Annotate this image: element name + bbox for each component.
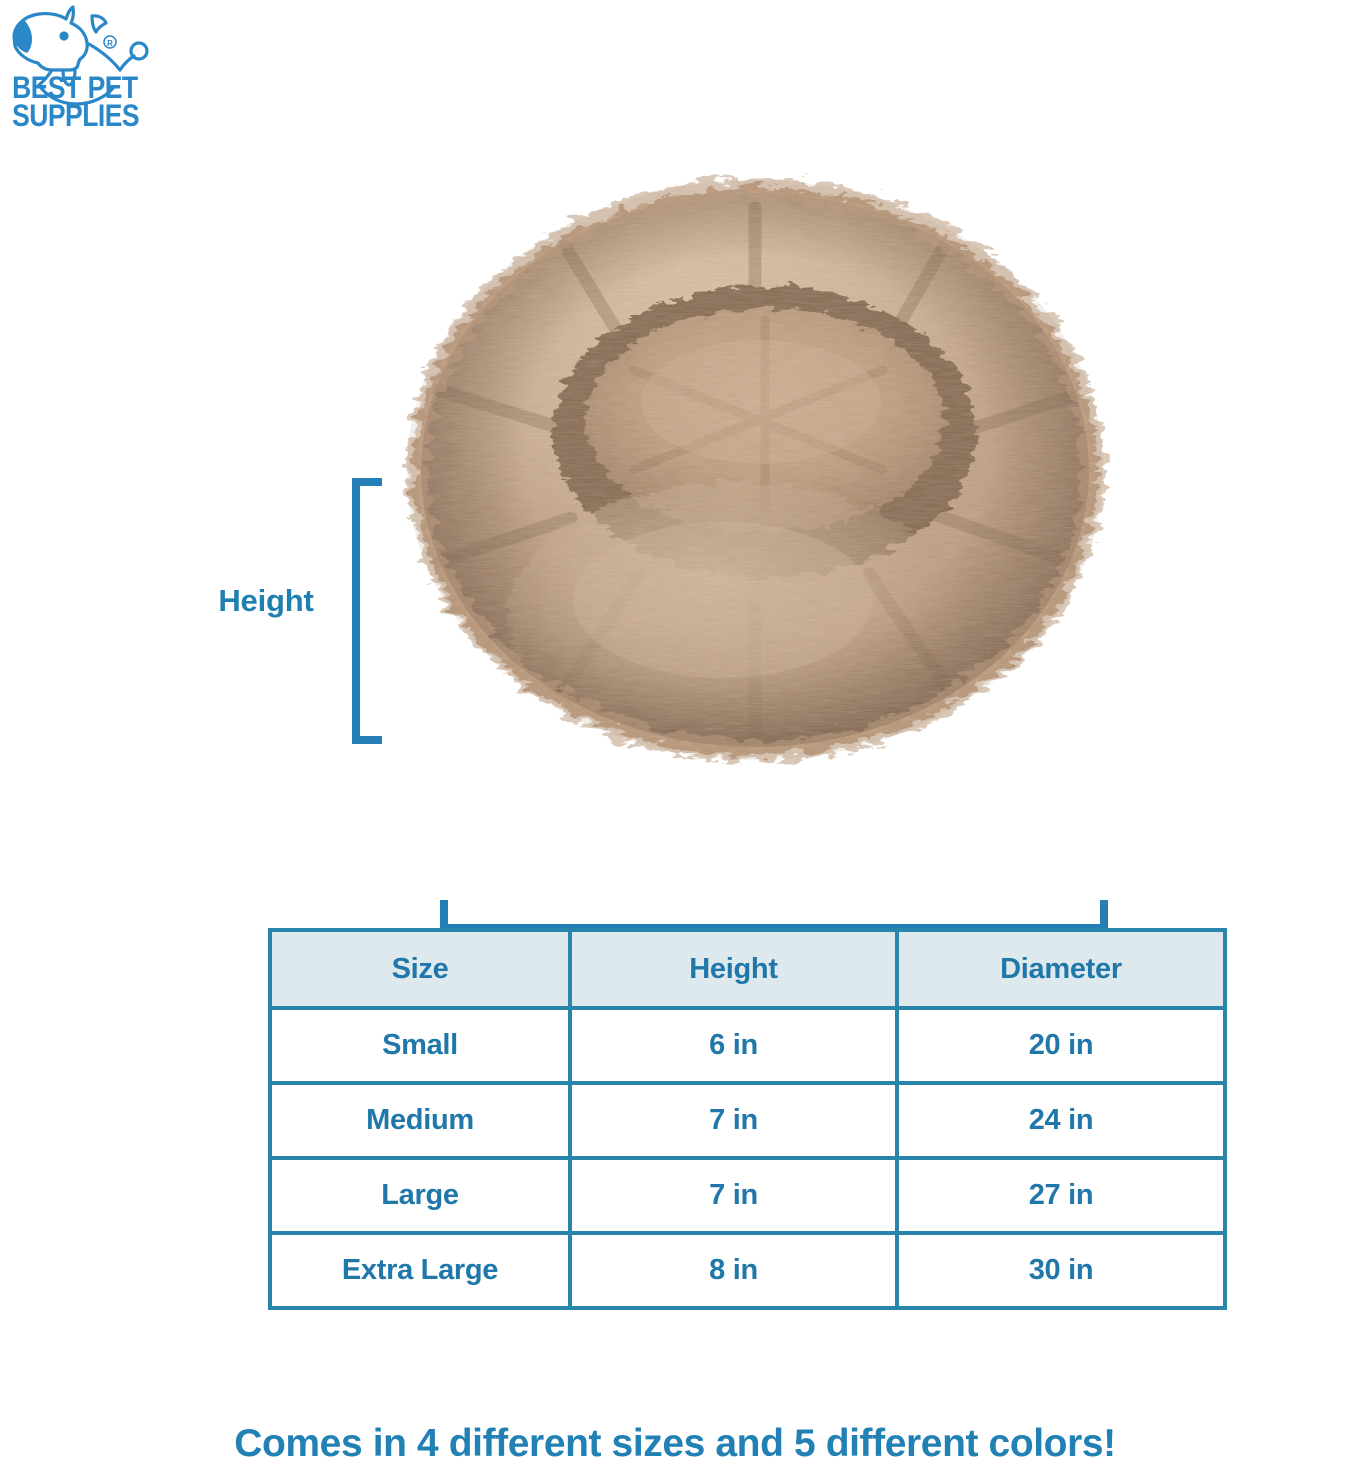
cell-height: 8 in [570, 1233, 897, 1308]
brand-wordmark-line2: SUPPLIES [12, 99, 139, 132]
pet-bed-image [383, 170, 1128, 770]
cell-diameter: 30 in [897, 1233, 1225, 1308]
product-figure: Height Diameter [0, 150, 1350, 870]
bracket-line-vertical [352, 478, 360, 744]
column-header-size: Size [270, 930, 570, 1008]
dog-eye-icon [59, 31, 68, 40]
footer-caption: Comes in 4 different sizes and 5 differe… [0, 1422, 1350, 1466]
cell-height: 6 in [570, 1008, 897, 1083]
cell-diameter: 20 in [897, 1008, 1225, 1083]
cell-diameter: 24 in [897, 1083, 1225, 1158]
cell-size: Small [270, 1008, 570, 1083]
svg-text:R: R [107, 39, 113, 48]
cell-size: Large [270, 1158, 570, 1233]
bed-fiber-texture [383, 170, 1128, 770]
diameter-measurement-bracket [440, 898, 1108, 932]
table-row: Large 7 in 27 in [270, 1158, 1225, 1233]
table-header-row: Size Height Diameter [270, 930, 1225, 1008]
column-header-diameter: Diameter [897, 930, 1225, 1008]
cell-diameter: 27 in [897, 1158, 1225, 1233]
dog-tail-circle-icon [131, 43, 147, 59]
bracket-cap-bottom [352, 736, 382, 744]
column-header-height: Height [570, 930, 897, 1008]
registered-mark: R [104, 36, 116, 48]
table-row: Medium 7 in 24 in [270, 1083, 1225, 1158]
cell-height: 7 in [570, 1158, 897, 1233]
table-row: Extra Large 8 in 30 in [270, 1233, 1225, 1308]
cell-size: Extra Large [270, 1233, 570, 1308]
size-chart-table: Size Height Diameter Small 6 in 20 in Me… [268, 928, 1227, 1310]
brand-logo: R BEST PET SUPPLIES [8, 4, 168, 132]
height-measurement-bracket [352, 478, 386, 744]
height-label: Height [196, 583, 336, 619]
cell-size: Medium [270, 1083, 570, 1158]
cell-height: 7 in [570, 1083, 897, 1158]
table-row: Small 6 in 20 in [270, 1008, 1225, 1083]
